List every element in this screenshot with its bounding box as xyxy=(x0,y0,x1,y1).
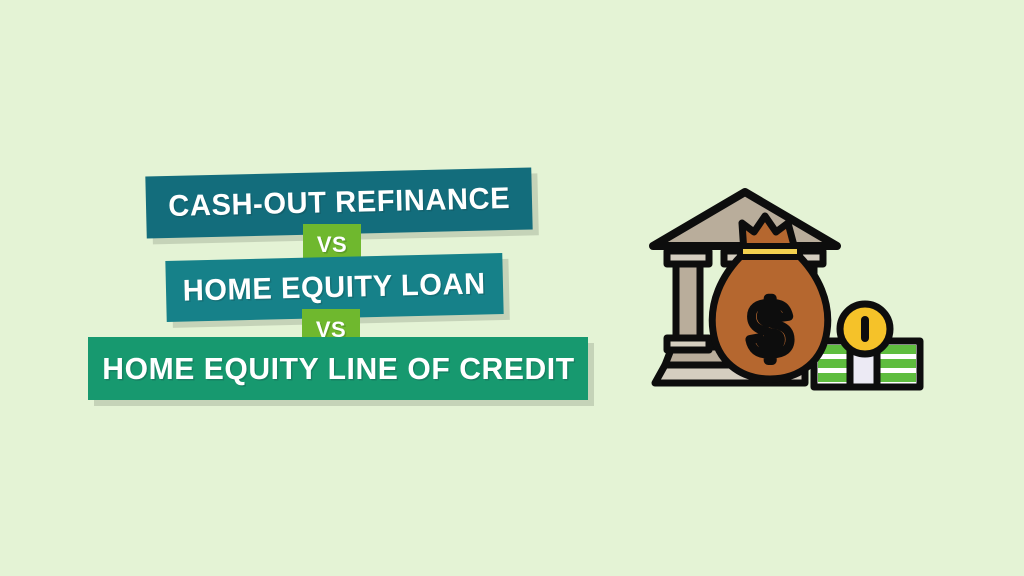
title-card-canvas: CASH-OUT REFINANCE VS HOME EQUITY LOAN V… xyxy=(0,0,1024,576)
svg-text:$: $ xyxy=(749,287,791,372)
banner-label-home-equity-loan: HOME EQUITY LOAN xyxy=(183,267,487,308)
bank-money-illustration: $ xyxy=(643,183,925,395)
banner-label-cash-out-refinance: CASH-OUT REFINANCE xyxy=(168,182,511,224)
gold-coin-icon xyxy=(840,304,890,354)
dollar-sign-icon: $ xyxy=(749,287,791,372)
vs-separator-1-label: VS xyxy=(317,232,347,258)
banner-label-home-equity-line-of-credit: HOME EQUITY LINE OF CREDIT xyxy=(102,351,574,387)
banner-home-equity-line-of-credit: HOME EQUITY LINE OF CREDIT xyxy=(88,337,588,400)
